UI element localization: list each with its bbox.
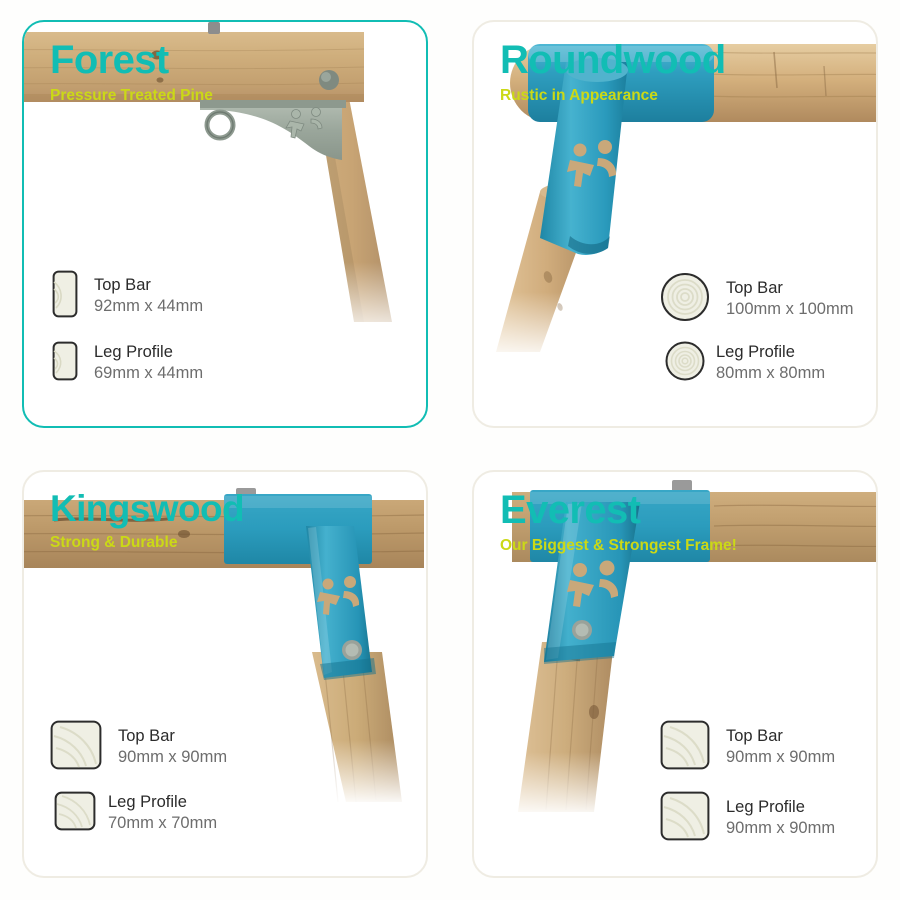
- card-title: Kingswood: [50, 490, 244, 527]
- spec-dimensions: 69mm x 44mm: [94, 363, 203, 384]
- card-cell-everest: Everest Our Biggest & Strongest Frame!: [450, 450, 900, 900]
- card-subtitle: Pressure Treated Pine: [50, 88, 213, 104]
- spec-text: Top Bar 90mm x 90mm: [118, 726, 227, 768]
- card-header-roundwood: Roundwood Rustic in Appearance: [500, 40, 726, 104]
- spec-row: Leg Profile 69mm x 44mm: [52, 341, 203, 386]
- card-header-forest: Forest Pressure Treated Pine: [50, 40, 213, 104]
- spec-list-kingswood: Top Bar 90mm x 90mm: [50, 720, 227, 848]
- swatch-leg-profile-icon: [660, 791, 710, 846]
- spec-row: Top Bar 92mm x 44mm: [52, 270, 203, 323]
- spec-label: Top Bar: [94, 275, 203, 296]
- spec-label: Leg Profile: [94, 342, 203, 363]
- spec-text: Leg Profile 69mm x 44mm: [94, 342, 203, 384]
- card-cell-roundwood: Roundwood Rustic in Appearance: [450, 0, 900, 450]
- card-header-everest: Everest Our Biggest & Strongest Frame!: [500, 490, 737, 554]
- card-cell-forest: Forest Pressure Treated Pine: [0, 0, 450, 450]
- swatch-top-bar-icon: [52, 270, 78, 323]
- spec-dimensions: 92mm x 44mm: [94, 296, 203, 317]
- spec-dimensions: 70mm x 70mm: [108, 813, 217, 834]
- spec-label: Top Bar: [726, 726, 835, 747]
- card-title: Forest: [50, 40, 213, 80]
- swatch-top-bar-icon: [660, 272, 710, 327]
- card-title: Roundwood: [500, 40, 726, 80]
- spec-dimensions: 90mm x 90mm: [726, 747, 835, 768]
- spec-text: Leg Profile 80mm x 80mm: [716, 342, 825, 384]
- swatch-top-bar-icon: [660, 720, 710, 775]
- spec-label: Top Bar: [726, 278, 853, 299]
- swatch-top-bar-icon: [50, 720, 102, 775]
- card-subtitle: Rustic in Appearance: [500, 88, 726, 104]
- spec-dimensions: 90mm x 90mm: [726, 818, 835, 839]
- swatch-leg-profile-icon: [54, 791, 96, 836]
- spec-text: Top Bar 90mm x 90mm: [726, 726, 835, 768]
- spec-label: Top Bar: [118, 726, 227, 747]
- spec-row: Top Bar 100mm x 100mm: [660, 272, 853, 327]
- spec-label: Leg Profile: [726, 797, 835, 818]
- spec-dimensions: 80mm x 80mm: [716, 363, 825, 384]
- spec-row: Top Bar 90mm x 90mm: [660, 720, 835, 775]
- product-card-forest[interactable]: Forest Pressure Treated Pine: [22, 20, 428, 428]
- card-cell-kingswood: Kingswood Strong & Durable: [0, 450, 450, 900]
- spec-text: Top Bar 92mm x 44mm: [94, 275, 203, 317]
- spec-label: Leg Profile: [716, 342, 825, 363]
- card-subtitle: Strong & Durable: [50, 535, 244, 551]
- spec-text: Top Bar 100mm x 100mm: [726, 278, 853, 320]
- swatch-leg-profile-icon: [52, 341, 78, 386]
- spec-label: Leg Profile: [108, 792, 217, 813]
- spec-text: Leg Profile 70mm x 70mm: [108, 792, 217, 834]
- spec-list-everest: Top Bar 90mm x 90mm: [660, 720, 835, 858]
- card-header-kingswood: Kingswood Strong & Durable: [50, 490, 244, 551]
- product-card-roundwood[interactable]: Roundwood Rustic in Appearance: [472, 20, 878, 428]
- spec-row: Leg Profile 80mm x 80mm: [660, 341, 853, 386]
- spec-list-roundwood: Top Bar 100mm x 100mm: [660, 272, 853, 398]
- spec-dimensions: 90mm x 90mm: [118, 747, 227, 768]
- product-card-everest[interactable]: Everest Our Biggest & Strongest Frame!: [472, 470, 878, 878]
- spec-row: Leg Profile 90mm x 90mm: [660, 791, 835, 846]
- swatch-leg-profile-icon: [665, 341, 705, 386]
- spec-list-forest: Top Bar 92mm x 44mm: [52, 270, 203, 398]
- product-card-kingswood[interactable]: Kingswood Strong & Durable: [22, 470, 428, 878]
- spec-dimensions: 100mm x 100mm: [726, 299, 853, 320]
- spec-row: Leg Profile 70mm x 70mm: [50, 791, 227, 836]
- spec-row: Top Bar 90mm x 90mm: [50, 720, 227, 775]
- product-comparison-grid: Forest Pressure Treated Pine: [0, 0, 900, 900]
- spec-text: Leg Profile 90mm x 90mm: [726, 797, 835, 839]
- card-subtitle: Our Biggest & Strongest Frame!: [500, 538, 737, 554]
- card-title: Everest: [500, 490, 737, 530]
